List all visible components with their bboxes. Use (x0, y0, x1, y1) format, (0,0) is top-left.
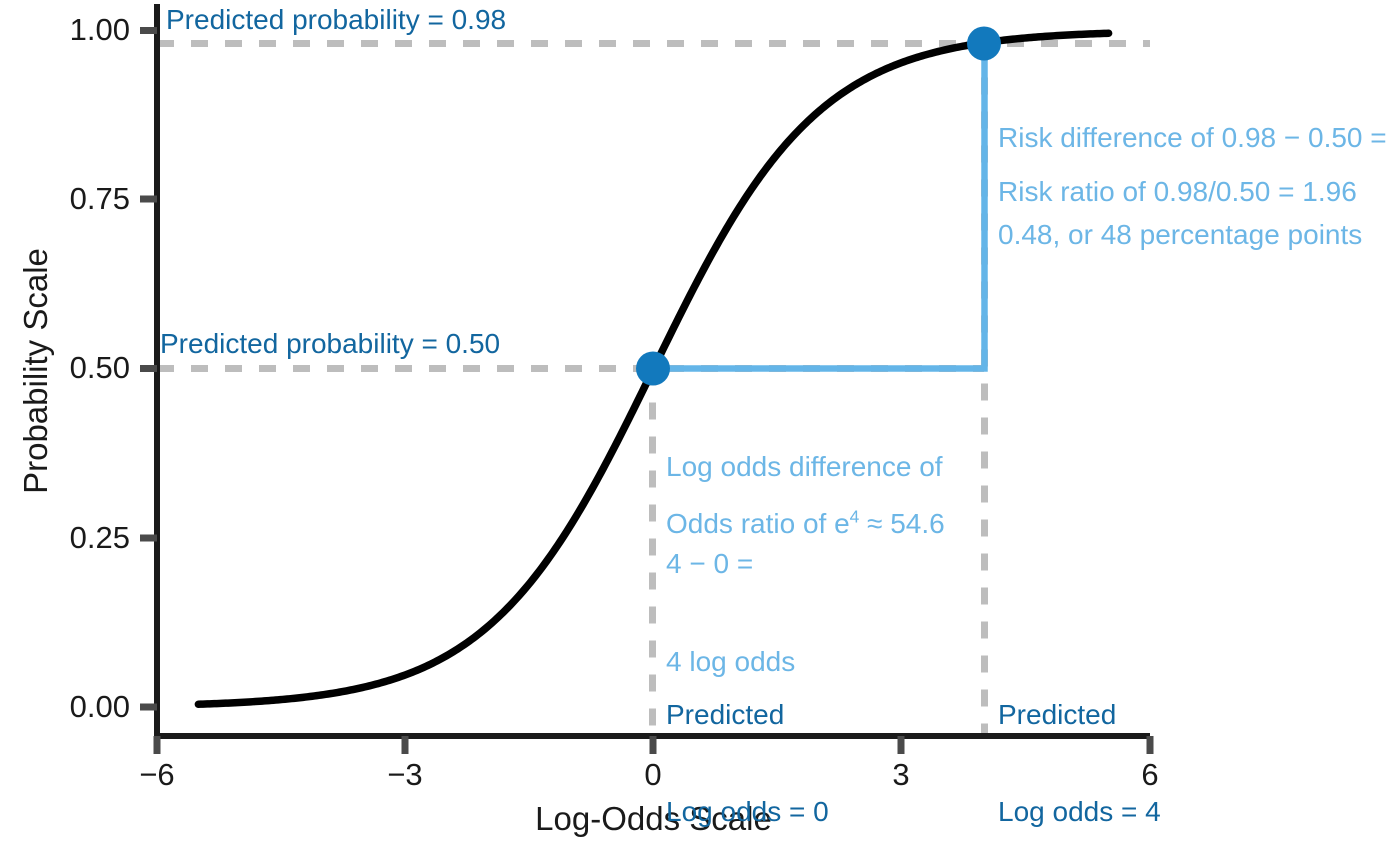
y-tick-label-025: 0.25 (0, 520, 130, 556)
risk-difference-line-1: Risk difference of 0.98 − 0.50 = (998, 122, 1398, 154)
pred-right-line-1: Predicted (998, 699, 1298, 731)
y-tick-label-000: 0.00 (0, 689, 130, 725)
pred-left-line-1: Predicted (666, 699, 966, 731)
y-axis-title: Probability Scale (17, 231, 55, 511)
annotation-predicted-probability-098: Predicted probability = 0.98 (166, 4, 506, 36)
annotation-predicted-probability-050: Predicted probability = 0.50 (160, 328, 500, 360)
annotation-predicted-log-odds-0: Predicted Log odds = 0 (666, 634, 966, 853)
annotation-risk-ratio: Risk ratio of 0.98/0.50 = 1.96 (998, 176, 1398, 208)
log-odds-line-2: 4 − 0 = (666, 548, 996, 580)
odds-ratio-exponent: 4 (850, 507, 860, 527)
data-points (636, 27, 1001, 386)
pred-left-line-2: Log odds = 0 (666, 796, 966, 828)
annotation-predicted-log-odds-4: Predicted Log odds = 4 (998, 634, 1298, 853)
connector-lines (653, 44, 985, 369)
annotation-odds-ratio: Odds ratio of e4 ≈ 54.6 (666, 508, 1006, 540)
odds-ratio-prefix: Odds ratio of e (666, 508, 850, 539)
data-point-reference[interactable] (636, 352, 670, 386)
risk-difference-connector (653, 44, 985, 369)
data-point-comparison[interactable] (967, 27, 1001, 61)
y-tick-label-100: 1.00 (0, 12, 130, 48)
chart-canvas: 1.00 0.75 0.50 0.25 0.00 −6 −3 0 3 6 Pro… (0, 0, 1400, 853)
odds-ratio-suffix: ≈ 54.6 (859, 508, 944, 539)
pred-right-line-2: Log odds = 4 (998, 796, 1298, 828)
risk-difference-line-2: 0.48, or 48 percentage points (998, 219, 1398, 251)
log-odds-line-1: Log odds difference of (666, 451, 996, 483)
y-tick-label-075: 0.75 (0, 181, 130, 217)
x-tick-label-neg6: −6 (107, 757, 207, 793)
x-tick-label-neg3: −3 (355, 757, 455, 793)
